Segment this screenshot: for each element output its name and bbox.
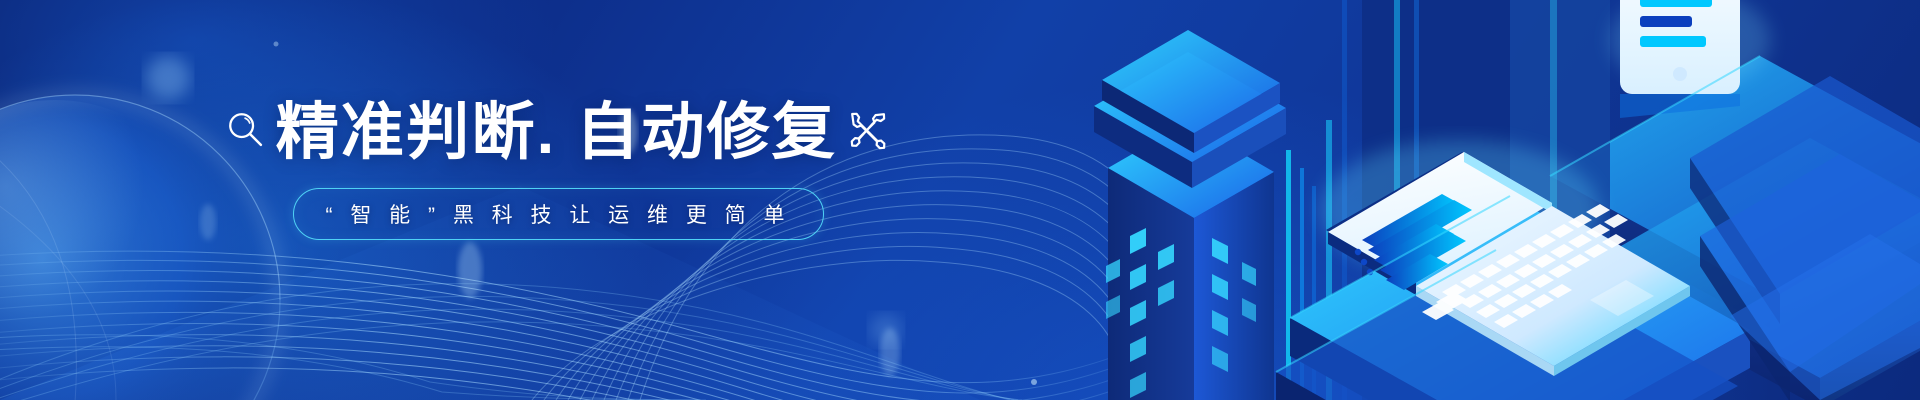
headline-row: 精准判断. 自动修复 — [225, 96, 891, 170]
wave-mesh-c — [0, 284, 1022, 400]
tower-building-left — [1094, 30, 1286, 400]
banner-root: 精准判断. 自动修复 “ 智 能 ” 黑 科 技 让 运 维 更 简 单 — [0, 0, 1920, 400]
headline-text: 精准判断. 自动修复 — [275, 102, 836, 164]
copy-block: 精准判断. 自动修复 “ 智 能 ” 黑 科 技 让 运 维 更 简 单 — [228, 96, 888, 240]
subtitle-pill: “ 智 能 ” 黑 科 技 让 运 维 更 简 单 — [293, 188, 824, 240]
search-icon — [225, 109, 267, 151]
subtitle-text: “ 智 能 ” 黑 科 技 让 运 维 更 简 单 — [326, 199, 791, 229]
wrench-screwdriver-icon — [845, 109, 891, 155]
isometric-illustration — [990, 0, 1920, 400]
